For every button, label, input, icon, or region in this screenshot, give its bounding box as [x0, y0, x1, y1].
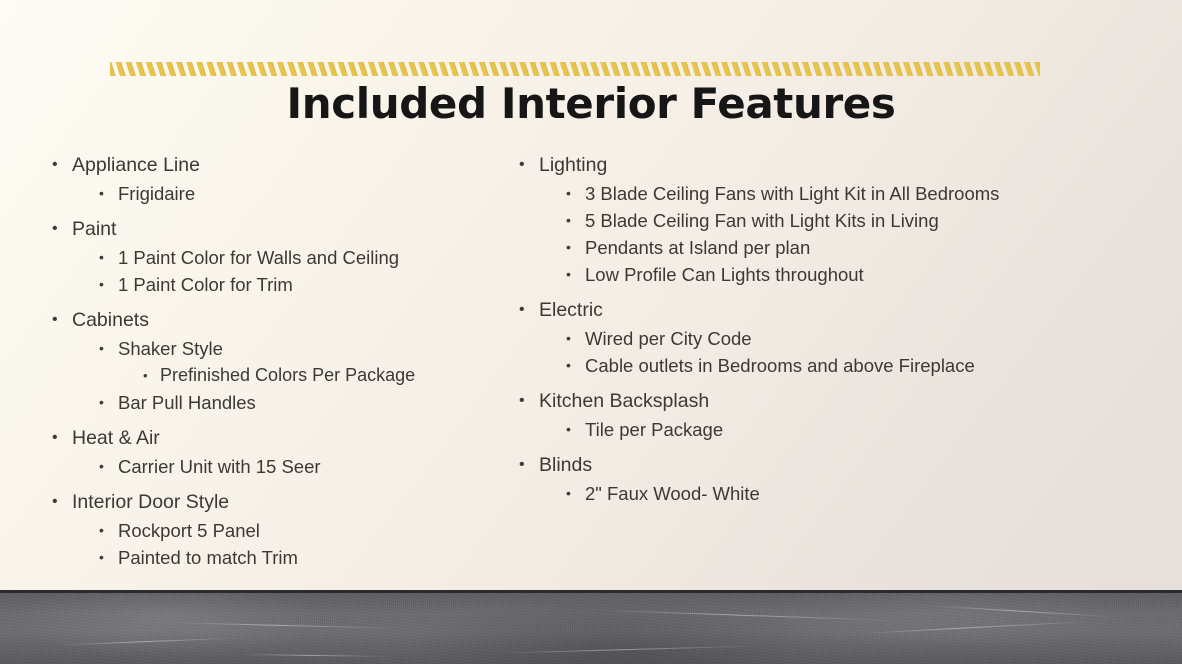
bullet-item-level-2: Cable outlets in Bedrooms and above Fire…	[512, 352, 1145, 379]
bullet-item-level-2: Carrier Unit with 15 Seer	[45, 453, 505, 480]
bullet-text: Frigidaire	[118, 180, 195, 207]
stone-photo-strip	[0, 590, 1182, 664]
bullet-item-level-2: Frigidaire	[45, 180, 505, 207]
bullet-item-level-1: Kitchen Backsplash	[512, 386, 1145, 416]
bullet-item-level-2: 1 Paint Color for Trim	[45, 271, 505, 298]
bullet-item-level-2: Shaker Style	[45, 335, 505, 362]
page-title: Included Interior Features	[0, 80, 1182, 127]
bullet-item-level-2: Bar Pull Handles	[45, 389, 505, 416]
decorative-stripe-bar	[110, 62, 1040, 76]
bullet-text: Kitchen Backsplash	[539, 386, 709, 416]
bullet-item-level-2: Tile per Package	[512, 416, 1145, 443]
bullet-item-level-1: Cabinets	[45, 305, 505, 335]
bullet-text: 5 Blade Ceiling Fan with Light Kits in L…	[585, 207, 939, 234]
content-columns: Appliance LineFrigidairePaint1 Paint Col…	[0, 150, 1182, 571]
bullet-text: Carrier Unit with 15 Seer	[118, 453, 321, 480]
bullet-text: Lighting	[539, 150, 607, 180]
bullet-text: Interior Door Style	[72, 487, 229, 517]
bullet-item-level-2: Rockport 5 Panel	[45, 517, 505, 544]
left-column: Appliance LineFrigidairePaint1 Paint Col…	[0, 150, 505, 571]
bullet-text: Blinds	[539, 450, 592, 480]
bullet-text: Rockport 5 Panel	[118, 517, 260, 544]
bullet-text: Cabinets	[72, 305, 149, 335]
stone-texture	[0, 593, 1182, 664]
bullet-item-level-3: Prefinished Colors Per Package	[45, 362, 505, 389]
bullet-item-level-1: Electric	[512, 295, 1145, 325]
bullet-item-level-1: Paint	[45, 214, 505, 244]
stone-grain-overlay	[0, 593, 1182, 664]
bullet-text: Low Profile Can Lights throughout	[585, 261, 864, 288]
bullet-item-level-2: Wired per City Code	[512, 325, 1145, 352]
slide-canvas: Included Interior Features Appliance Lin…	[0, 0, 1182, 664]
bullet-text: Painted to match Trim	[118, 544, 298, 571]
bullet-text: Wired per City Code	[585, 325, 752, 352]
bullet-text: 2" Faux Wood- White	[585, 480, 760, 507]
bullet-text: Pendants at Island per plan	[585, 234, 810, 261]
bullet-text: Heat & Air	[72, 423, 160, 453]
bullet-item-level-1: Blinds	[512, 450, 1145, 480]
bullet-item-level-2: Low Profile Can Lights throughout	[512, 261, 1145, 288]
bullet-item-level-2: Pendants at Island per plan	[512, 234, 1145, 261]
bullet-text: Prefinished Colors Per Package	[160, 362, 415, 389]
bullet-text: 3 Blade Ceiling Fans with Light Kit in A…	[585, 180, 999, 207]
bullet-text: 1 Paint Color for Walls and Ceiling	[118, 244, 399, 271]
bullet-item-level-1: Heat & Air	[45, 423, 505, 453]
bullet-item-level-2: 3 Blade Ceiling Fans with Light Kit in A…	[512, 180, 1145, 207]
bullet-item-level-2: 1 Paint Color for Walls and Ceiling	[45, 244, 505, 271]
bullet-text: Appliance Line	[72, 150, 200, 180]
bullet-item-level-1: Lighting	[512, 150, 1145, 180]
bullet-text: Bar Pull Handles	[118, 389, 256, 416]
right-column: Lighting3 Blade Ceiling Fans with Light …	[505, 150, 1145, 507]
bullet-text: Paint	[72, 214, 116, 244]
bullet-text: Electric	[539, 295, 603, 325]
bullet-text: 1 Paint Color for Trim	[118, 271, 293, 298]
bullet-text: Tile per Package	[585, 416, 723, 443]
bullet-item-level-2: Painted to match Trim	[45, 544, 505, 571]
bullet-text: Cable outlets in Bedrooms and above Fire…	[585, 352, 975, 379]
bullet-item-level-1: Interior Door Style	[45, 487, 505, 517]
bullet-item-level-1: Appliance Line	[45, 150, 505, 180]
bullet-item-level-2: 2" Faux Wood- White	[512, 480, 1145, 507]
left-bullet-list: Appliance LineFrigidairePaint1 Paint Col…	[45, 150, 505, 571]
bullet-item-level-2: 5 Blade Ceiling Fan with Light Kits in L…	[512, 207, 1145, 234]
bullet-text: Shaker Style	[118, 335, 223, 362]
right-bullet-list: Lighting3 Blade Ceiling Fans with Light …	[512, 150, 1145, 507]
